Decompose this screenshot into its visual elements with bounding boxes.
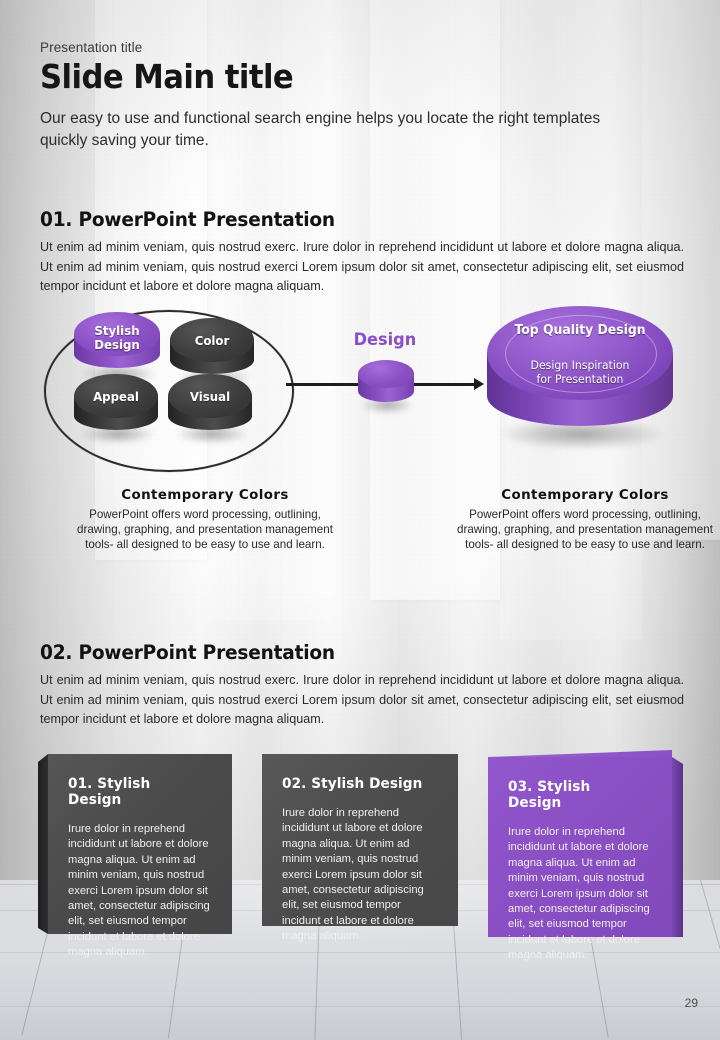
section-2-body: Ut enim ad minim veniam, quis nostrud ex… bbox=[40, 671, 684, 730]
caption-1-body: PowerPoint offers word processing, outli… bbox=[75, 507, 335, 553]
design-step-label: Design bbox=[354, 330, 417, 350]
cylinder-label-text: Stylish Design bbox=[94, 323, 140, 352]
card-03[interactable]: 03. Stylish Design Irure dolor in repreh… bbox=[488, 757, 672, 937]
card-body: Irure dolor in reprehend incididunt ut l… bbox=[508, 825, 654, 964]
caption-2-title: Contemporary Colors bbox=[440, 488, 720, 503]
caption-2-body: PowerPoint offers word processing, outli… bbox=[455, 507, 715, 553]
card-face: 03. Stylish Design Irure dolor in repreh… bbox=[488, 757, 672, 937]
cylinder-label-text: Visual bbox=[190, 389, 230, 404]
cylinder-visual[interactable]: Visual bbox=[168, 374, 252, 444]
result-title: Top Quality Design bbox=[493, 324, 668, 338]
result-subtitle-line-1: Design Inspiration bbox=[531, 358, 630, 372]
section-1-title: 01. PowerPoint Presentation bbox=[40, 208, 335, 231]
card-02[interactable]: 02. Stylish Design Irure dolor in repreh… bbox=[262, 754, 458, 926]
card-01[interactable]: 01. Stylish Design Irure dolor in repreh… bbox=[48, 754, 232, 934]
card-title: 03. Stylish Design bbox=[508, 779, 648, 811]
caption-1-title: Contemporary Colors bbox=[60, 488, 350, 503]
card-face: 01. Stylish Design Irure dolor in repreh… bbox=[48, 754, 232, 934]
cylinder-label: Stylish Design bbox=[77, 324, 158, 351]
slide-canvas: Presentation title Slide Main title Our … bbox=[0, 0, 720, 1040]
card-body: Irure dolor in reprehend incididunt ut l… bbox=[68, 822, 214, 961]
card-body: Irure dolor in reprehend incididunt ut l… bbox=[282, 806, 440, 945]
card-face: 02. Stylish Design Irure dolor in repreh… bbox=[262, 754, 458, 926]
process-diagram: Stylish Design Color Appeal bbox=[0, 300, 720, 480]
page-title: Slide Main title bbox=[40, 57, 293, 96]
section-1-body: Ut enim ad minim veniam, quis nostrud ex… bbox=[40, 238, 684, 297]
arrow-head-icon bbox=[474, 378, 484, 390]
card-left-edge bbox=[38, 754, 48, 934]
connector-line-right bbox=[414, 383, 476, 386]
cylinder-design[interactable] bbox=[358, 360, 414, 414]
connector-line-left bbox=[286, 383, 358, 386]
cylinder-label: Color bbox=[173, 334, 252, 348]
result-title-text: Top Quality Design bbox=[514, 323, 645, 338]
card-title: 02. Stylish Design bbox=[282, 776, 434, 792]
cylinder-label-text: Color bbox=[195, 333, 230, 348]
presentation-title-label: Presentation title bbox=[40, 40, 142, 55]
result-subtitle-line-2: for Presentation bbox=[537, 372, 624, 386]
cylinder-label: Appeal bbox=[77, 390, 156, 404]
cylinder-label-text: Appeal bbox=[93, 389, 139, 404]
section-2-title: 02. PowerPoint Presentation bbox=[40, 641, 335, 664]
page-number: 29 bbox=[685, 996, 698, 1010]
card-title: 01. Stylish Design bbox=[68, 776, 208, 808]
cylinder-label: Visual bbox=[171, 390, 250, 404]
result-subtitle: Design Inspiration for Presentation bbox=[493, 358, 668, 386]
page-subtitle: Our easy to use and functional search en… bbox=[40, 108, 620, 152]
card-right-edge bbox=[672, 757, 683, 937]
cylinder-appeal[interactable]: Appeal bbox=[74, 374, 158, 444]
cylinder-top bbox=[358, 360, 414, 388]
cylinder-top-quality-design[interactable]: Top Quality Design Design Inspiration fo… bbox=[487, 306, 673, 452]
